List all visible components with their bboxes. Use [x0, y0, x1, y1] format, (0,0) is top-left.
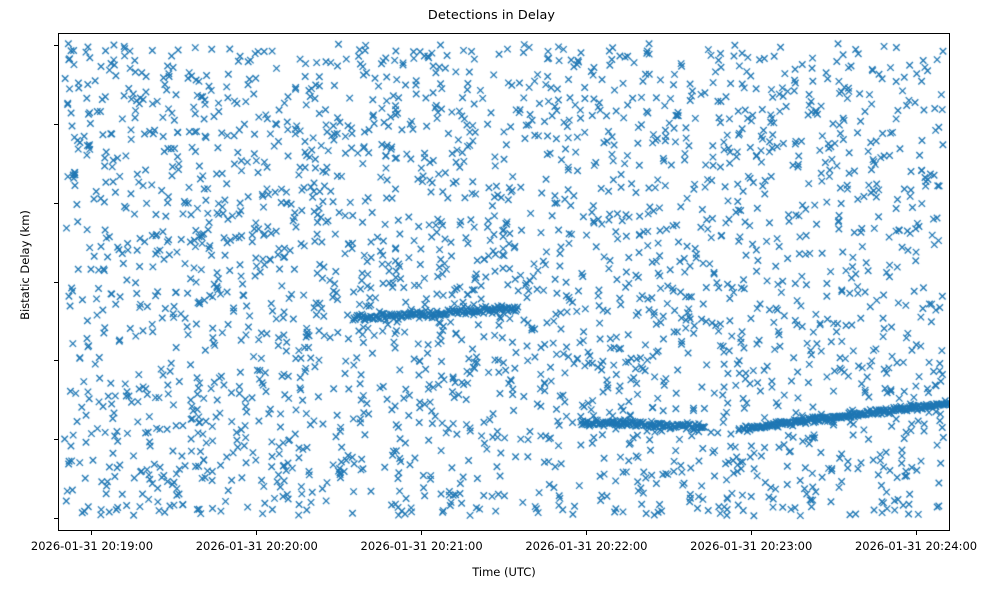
- x-tick-mark: [421, 531, 422, 535]
- plot-axes: [58, 33, 950, 531]
- y-tick-mark: [54, 45, 58, 46]
- y-tick-mark: [54, 518, 58, 519]
- x-tick-mark: [586, 531, 587, 535]
- page-title: Detections in Delay: [0, 8, 983, 23]
- x-tick-label: 2026-01-31 20:24:00: [836, 539, 983, 553]
- matplotlib-figure: Detections in Delay 0102030405060 2026-0…: [0, 0, 983, 590]
- x-tick-mark: [91, 531, 92, 535]
- x-axis-label: Time (UTC): [58, 565, 950, 579]
- y-tick-mark: [54, 439, 58, 440]
- x-tick-label: 2026-01-31 20:22:00: [506, 539, 666, 553]
- y-tick-mark: [54, 124, 58, 125]
- x-tick-label: 2026-01-31 20:23:00: [671, 539, 831, 553]
- scatter-plot-canvas: [59, 34, 949, 530]
- x-tick-mark: [916, 531, 917, 535]
- y-tick-mark: [54, 360, 58, 361]
- x-tick-label: 2026-01-31 20:19:00: [12, 539, 172, 553]
- y-axis-label: Bistatic Delay (km): [18, 16, 32, 514]
- x-tick-mark: [256, 531, 257, 535]
- x-tick-mark: [751, 531, 752, 535]
- y-tick-mark: [54, 203, 58, 204]
- x-tick-label: 2026-01-31 20:21:00: [342, 539, 502, 553]
- y-tick-mark: [54, 282, 58, 283]
- x-tick-label: 2026-01-31 20:20:00: [177, 539, 337, 553]
